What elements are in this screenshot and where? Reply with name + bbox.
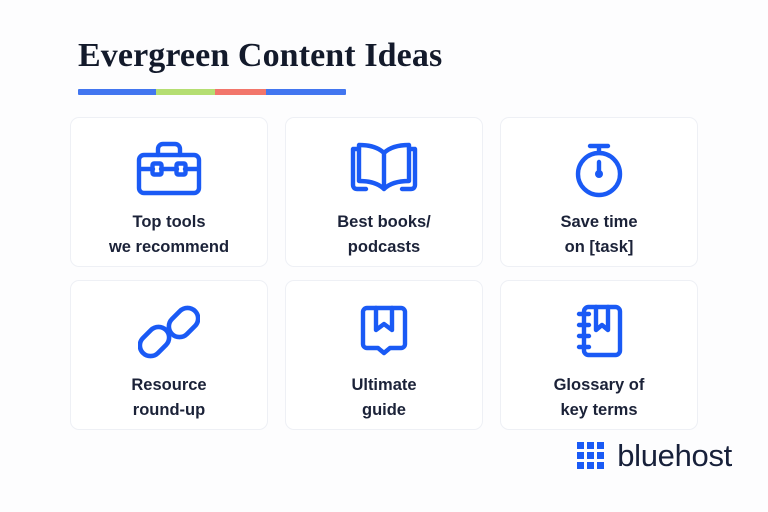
logo-square — [587, 452, 594, 459]
infographic-canvas: Evergreen Content Ideas — [0, 0, 768, 512]
card-label: Ultimate guide — [351, 373, 416, 423]
divider-segment-3 — [215, 89, 266, 95]
card-top-tools[interactable]: Top tools we recommend — [70, 117, 268, 267]
card-save-time[interactable]: Save time on [task] — [500, 117, 698, 267]
bookmarked-book-icon — [355, 301, 413, 363]
bluehost-logo[interactable]: bluehost — [577, 440, 732, 471]
card-label: Resource round-up — [131, 373, 206, 423]
logo-square — [597, 462, 604, 469]
divider-segment-1 — [78, 89, 156, 95]
card-glossary[interactable]: Glossary of key terms — [500, 280, 698, 430]
card-best-books[interactable]: Best books/ podcasts — [285, 117, 483, 267]
logo-square — [597, 442, 604, 449]
card-label: Top tools we recommend — [109, 210, 229, 260]
divider-segment-2 — [156, 89, 215, 95]
logo-square — [587, 462, 594, 469]
logo-square — [597, 452, 604, 459]
spiral-notebook-icon — [570, 301, 628, 363]
card-ultimate-guide[interactable]: Ultimate guide — [285, 280, 483, 430]
card-label: Best books/ podcasts — [337, 210, 431, 260]
card-label: Glossary of key terms — [554, 373, 645, 423]
logo-square — [577, 462, 584, 469]
toolbox-icon — [131, 138, 207, 200]
header: Evergreen Content Ideas — [78, 36, 442, 95]
logo-square — [577, 442, 584, 449]
divider-segment-4 — [266, 89, 346, 95]
bluehost-grid-icon — [577, 442, 604, 469]
accent-divider — [78, 89, 346, 95]
bluehost-wordmark: bluehost — [617, 440, 732, 471]
chain-link-icon — [138, 301, 200, 363]
content-idea-grid: Top tools we recommend Best books/ podca… — [70, 117, 698, 430]
logo-square — [577, 452, 584, 459]
open-book-icon — [347, 138, 421, 200]
card-label: Save time on [task] — [560, 210, 637, 260]
stopwatch-icon — [568, 138, 630, 200]
page-title: Evergreen Content Ideas — [78, 36, 442, 76]
logo-square — [587, 442, 594, 449]
card-resource-roundup[interactable]: Resource round-up — [70, 280, 268, 430]
